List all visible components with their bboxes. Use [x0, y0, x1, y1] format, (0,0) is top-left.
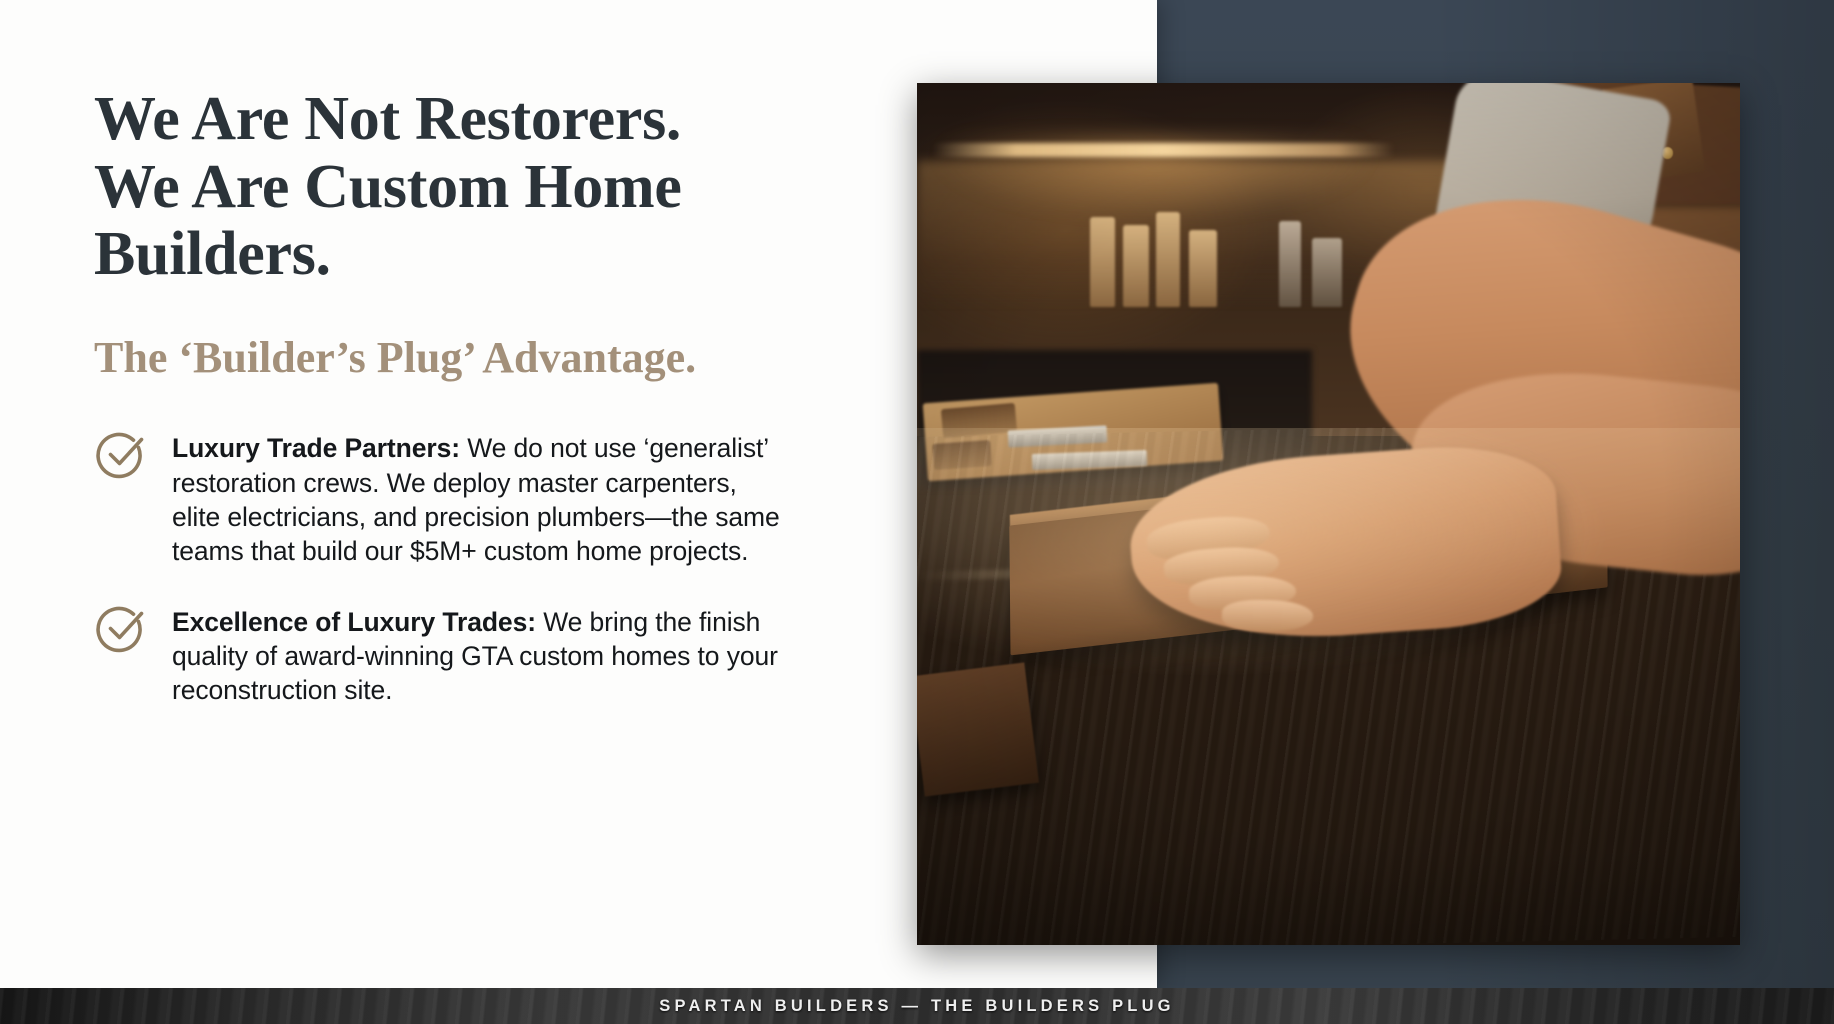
list-item-text: Excellence of Luxury Trades: We bring th… [172, 605, 790, 708]
check-circle-icon [94, 427, 150, 483]
slide-headline: We Are Not Restorers. We Are Custom Home… [94, 86, 794, 289]
footer-brand-text: SPARTAN BUILDERS — THE BUILDERS PLUG [659, 997, 1174, 1016]
list-item-label: Excellence of Luxury Trades: [172, 607, 536, 637]
slide-footer: SPARTAN BUILDERS — THE BUILDERS PLUG [0, 988, 1834, 1024]
slide-subheadline: The ‘Builder’s Plug’ Advantage. [94, 333, 794, 384]
check-circle-icon [94, 601, 150, 657]
list-item: Luxury Trade Partners: We do not use ‘ge… [94, 431, 794, 568]
list-item: Excellence of Luxury Trades: We bring th… [94, 605, 794, 708]
bullet-list: Luxury Trade Partners: We do not use ‘ge… [94, 431, 794, 707]
text-column: We Are Not Restorers. We Are Custom Home… [94, 86, 794, 708]
list-item-text: Luxury Trade Partners: We do not use ‘ge… [172, 431, 790, 568]
presentation-slide: We Are Not Restorers. We Are Custom Home… [0, 0, 1834, 1024]
photo-canvas [917, 83, 1740, 945]
slide-photo [917, 83, 1740, 945]
list-item-label: Luxury Trade Partners: [172, 433, 460, 463]
